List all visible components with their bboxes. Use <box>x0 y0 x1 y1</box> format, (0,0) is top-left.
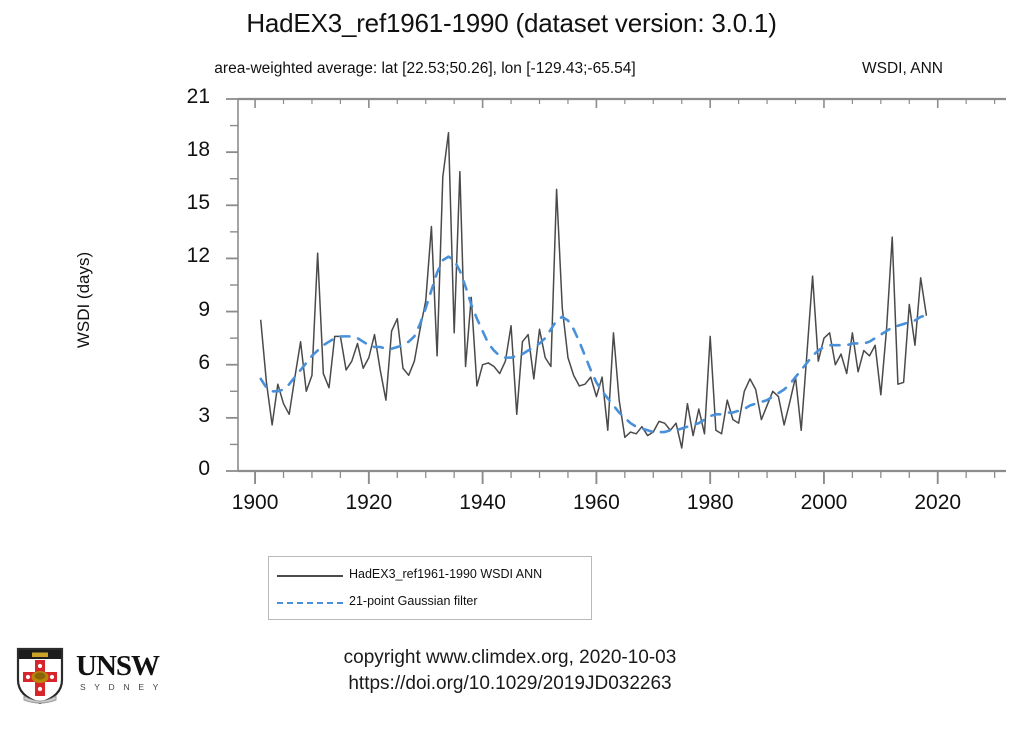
unsw-logo-subtext: S Y D N E Y <box>80 682 162 692</box>
x-tick-2020: 2020 <box>888 491 988 515</box>
x-tick-1920: 1920 <box>319 491 419 515</box>
unsw-logo-text: UNSW <box>76 650 159 683</box>
y-tick-15: 15 <box>164 191 210 215</box>
series-line-observed <box>261 133 927 448</box>
footer: copyright www.climdex.org, 2020-10-03 ht… <box>175 645 845 697</box>
x-tick-1900: 1900 <box>205 491 305 515</box>
chart-figure: HadEX3_ref1961-1990 (dataset version: 3.… <box>0 0 1023 730</box>
legend-entry-filter: 21-point Gaussian filter <box>269 590 591 616</box>
y-tick-6: 6 <box>164 351 210 375</box>
footer-doi: https://doi.org/10.1029/2019JD032263 <box>175 671 845 697</box>
y-tick-18: 18 <box>164 138 210 162</box>
unsw-crest-icon <box>14 646 66 706</box>
y-tick-3: 3 <box>164 404 210 428</box>
legend-swatch-solid-line-icon <box>277 575 343 577</box>
y-tick-9: 9 <box>164 298 210 322</box>
x-tick-1960: 1960 <box>546 491 646 515</box>
x-tick-1940: 1940 <box>433 491 533 515</box>
x-tick-1980: 1980 <box>660 491 760 515</box>
unsw-logo: UNSW S Y D N E Y <box>14 646 174 708</box>
legend-label-filter: 21-point Gaussian filter <box>349 594 478 608</box>
legend: HadEX3_ref1961-1990 WSDI ANN 21-point Ga… <box>268 556 592 620</box>
footer-copyright: copyright www.climdex.org, 2020-10-03 <box>175 645 845 671</box>
legend-swatch-dashed-line-icon <box>277 602 343 604</box>
legend-label-series: HadEX3_ref1961-1990 WSDI ANN <box>349 567 542 581</box>
legend-entry-series: HadEX3_ref1961-1990 WSDI ANN <box>269 563 591 589</box>
y-tick-12: 12 <box>164 244 210 268</box>
series-line-gaussian-filter <box>261 257 927 432</box>
y-tick-0: 0 <box>164 457 210 481</box>
x-tick-2000: 2000 <box>774 491 874 515</box>
y-tick-21: 21 <box>164 85 210 109</box>
plot-area <box>0 0 1023 730</box>
